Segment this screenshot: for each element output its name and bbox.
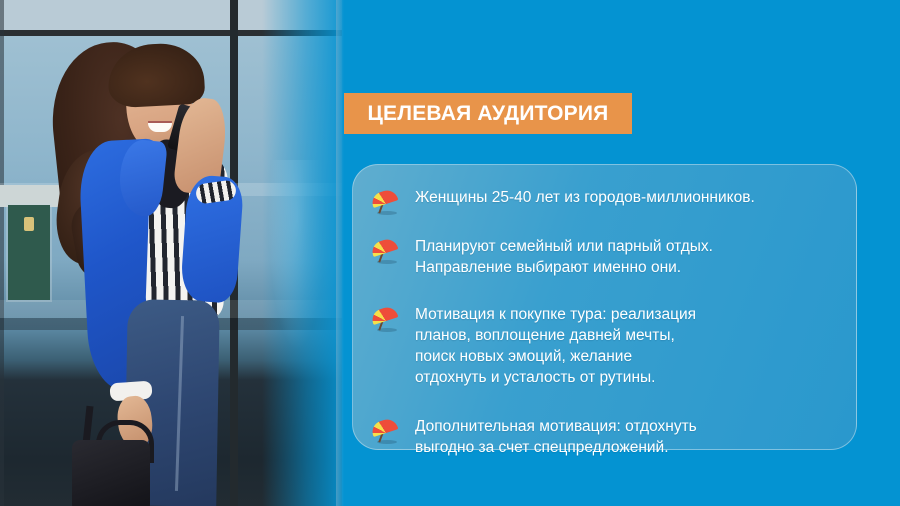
bullet-text: Мотивация к покупке тура: реализация пла…	[415, 304, 696, 388]
title-banner: ЦЕЛЕВАЯ АУДИТОРИЯ	[344, 93, 632, 134]
list-item: Женщины 25-40 лет из городов-миллионнико…	[371, 187, 834, 216]
handbag	[72, 440, 150, 506]
bullet-text: Дополнительная мотивация: отдохнуть выго…	[415, 416, 697, 458]
woman-figure	[0, 0, 342, 506]
hero-photo	[0, 0, 342, 506]
beach-umbrella-icon	[371, 305, 401, 333]
slide: ЦЕЛЕВАЯ АУДИТОРИЯ Женщины 25-40 лет из г…	[0, 0, 900, 506]
beach-umbrella-icon	[371, 417, 401, 445]
audience-card: Женщины 25-40 лет из городов-миллионнико…	[352, 164, 857, 450]
bullet-text: Планируют семейный или парный отдых. Нап…	[415, 236, 713, 278]
list-item: Мотивация к покупке тура: реализация пла…	[371, 304, 834, 388]
bullet-text: Женщины 25-40 лет из городов-миллионнико…	[415, 187, 755, 208]
list-item: Планируют семейный или парный отдых. Нап…	[371, 236, 834, 278]
beach-umbrella-icon	[371, 188, 401, 216]
bullet-list: Женщины 25-40 лет из городов-миллионнико…	[371, 187, 834, 458]
page-title: ЦЕЛЕВАЯ АУДИТОРИЯ	[368, 102, 609, 126]
beach-umbrella-icon	[371, 237, 401, 265]
list-item: Дополнительная мотивация: отдохнуть выго…	[371, 416, 834, 458]
